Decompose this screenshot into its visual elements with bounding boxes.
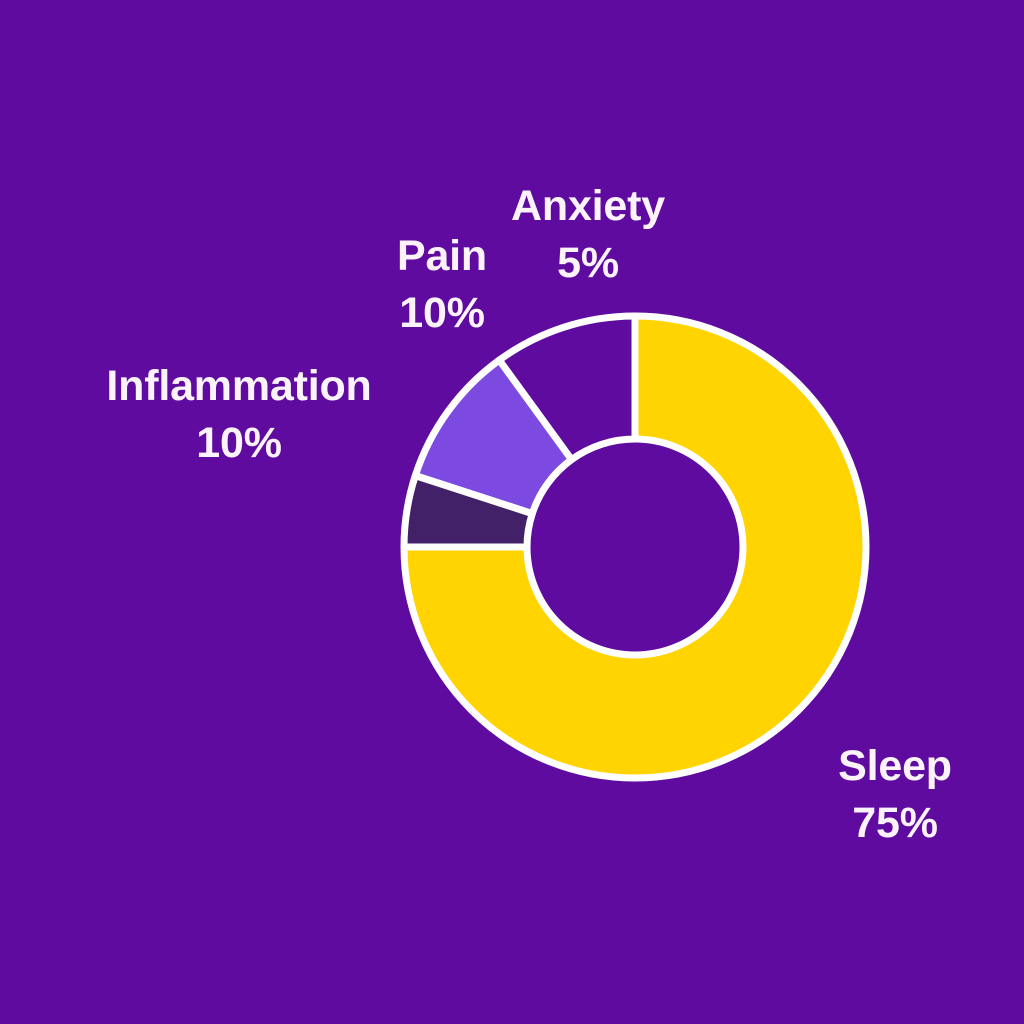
slice-label-pain-name: Pain [330,228,554,285]
donut-chart-canvas: Anxiety 5% Pain 10% Inflammation 10% Sle… [0,0,1024,1024]
slice-label-anxiety-name: Anxiety [478,178,698,235]
slice-label-sleep-name: Sleep [775,738,1015,795]
slice-label-inflammation-name: Inflammation [58,358,420,415]
slice-label-sleep-value: 75% [775,795,1015,852]
slice-label-inflammation-value: 10% [58,415,420,472]
slice-label-pain: Pain 10% [330,228,554,342]
slice-label-inflammation: Inflammation 10% [58,358,420,472]
slice-label-pain-value: 10% [330,285,554,342]
slice-label-sleep: Sleep 75% [775,738,1015,852]
donut-chart-graphic [0,0,1024,1024]
